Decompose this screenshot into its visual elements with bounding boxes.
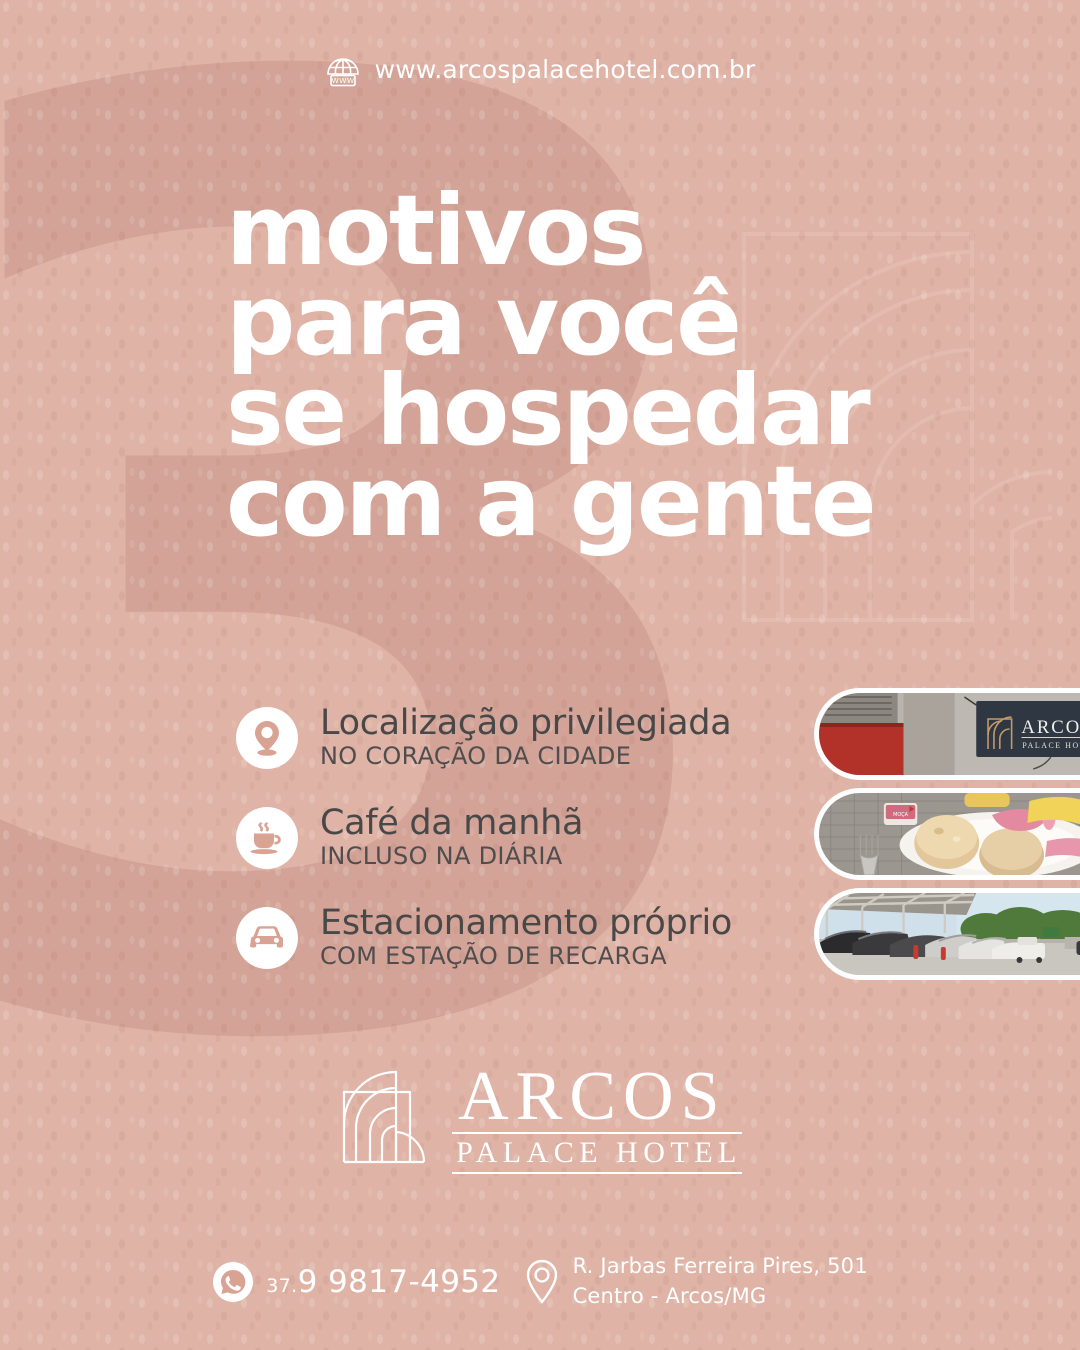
features-list: Localização privilegiada NO CORAÇÃO DA C… [236, 690, 836, 990]
svg-text:PALACE HOTEL: PALACE HOTEL [1022, 741, 1080, 750]
hotel-facade-sign-photo: ARCOS PALACE HOTEL [819, 693, 1080, 775]
feature-item-location: Localização privilegiada NO CORAÇÃO DA C… [236, 690, 836, 786]
logo-wordmark: ARCOS PALACE HOTEL [452, 1062, 742, 1174]
poster-canvas: 3 WWW www.arcospalacehotel.com.br [0, 0, 1080, 1350]
photo-card-parking [814, 888, 1080, 980]
logo-name: ARCOS [452, 1062, 742, 1132]
svg-text:MOÇA: MOÇA [893, 812, 908, 818]
feature-subtitle: COM ESTAÇÃO DE RECARGA [320, 943, 732, 971]
headline-line-3: se hospedar [226, 366, 906, 456]
feature-item-breakfast: Café da manhã INCLUSO NA DIÁRIA [236, 790, 836, 886]
feature-title: Café da manhã [320, 806, 583, 842]
logo-rule-bottom [452, 1172, 742, 1174]
feature-text: Café da manhã INCLUSO NA DIÁRIA [320, 806, 583, 870]
feature-icon-badge [236, 707, 298, 769]
feature-icon-badge [236, 907, 298, 969]
headline-line-2: para você [226, 276, 906, 366]
location-pin-outline-icon [523, 1258, 561, 1306]
svg-text:ARCOS: ARCOS [1021, 717, 1080, 738]
contact-address-group[interactable]: R. Jarbas Ferreira Pires, 501 Centro - A… [523, 1252, 868, 1312]
svg-text:WWW: WWW [331, 76, 354, 85]
photo-thumbnails: ARCOS PALACE HOTEL [814, 688, 1080, 988]
feature-title: Localização privilegiada [320, 706, 731, 742]
photo-card-breakfast: MOÇA [814, 788, 1080, 880]
website-url[interactable]: www.arcospalacehotel.com.br [375, 55, 756, 84]
headline-line-4: com a gente [226, 457, 906, 547]
location-pin-icon [250, 719, 284, 757]
address-line-2: Centro - Arcos/MG [573, 1282, 868, 1312]
phone-main-number: 9 9817-4952 [298, 1264, 501, 1300]
contact-phone-group[interactable]: 37.9 9817-4952 [212, 1261, 500, 1303]
feature-subtitle: NO CORAÇÃO DA CIDADE [320, 743, 731, 771]
feature-title: Estacionamento próprio [320, 906, 732, 942]
address-line-1: R. Jarbas Ferreira Pires, 501 [573, 1252, 868, 1282]
car-icon [247, 923, 287, 953]
coffee-cup-icon [248, 819, 286, 857]
feature-text: Estacionamento próprio COM ESTAÇÃO DE RE… [320, 906, 732, 970]
website-header: WWW www.arcospalacehotel.com.br [0, 50, 1080, 88]
globe-www-icon: WWW [325, 50, 361, 88]
feature-text: Localização privilegiada NO CORAÇÃO DA C… [320, 706, 731, 770]
photo-card-facade: ARCOS PALACE HOTEL [814, 688, 1080, 780]
covered-parking-lot-photo [819, 893, 1080, 975]
arcos-arch-mark [338, 1066, 430, 1170]
phone-number-text[interactable]: 37.9 9817-4952 [266, 1264, 500, 1300]
breakfast-plate-photo: MOÇA [819, 793, 1080, 875]
hero-headline: motivos para você se hospedar com a gent… [226, 186, 906, 547]
feature-icon-badge [236, 807, 298, 869]
whatsapp-icon[interactable] [212, 1261, 254, 1303]
logo-tagline: PALACE HOTEL [452, 1134, 742, 1172]
brand-logo: ARCOS PALACE HOTEL [0, 1062, 1080, 1174]
contact-footer: 37.9 9817-4952 R. Jarbas Ferreira Pires,… [0, 1252, 1080, 1312]
feature-item-parking: Estacionamento próprio COM ESTAÇÃO DE RE… [236, 890, 836, 986]
address-text: R. Jarbas Ferreira Pires, 501 Centro - A… [573, 1252, 868, 1312]
phone-area-code: 37. [266, 1275, 297, 1297]
headline-line-1: motivos [226, 186, 906, 276]
feature-subtitle: INCLUSO NA DIÁRIA [320, 843, 583, 871]
